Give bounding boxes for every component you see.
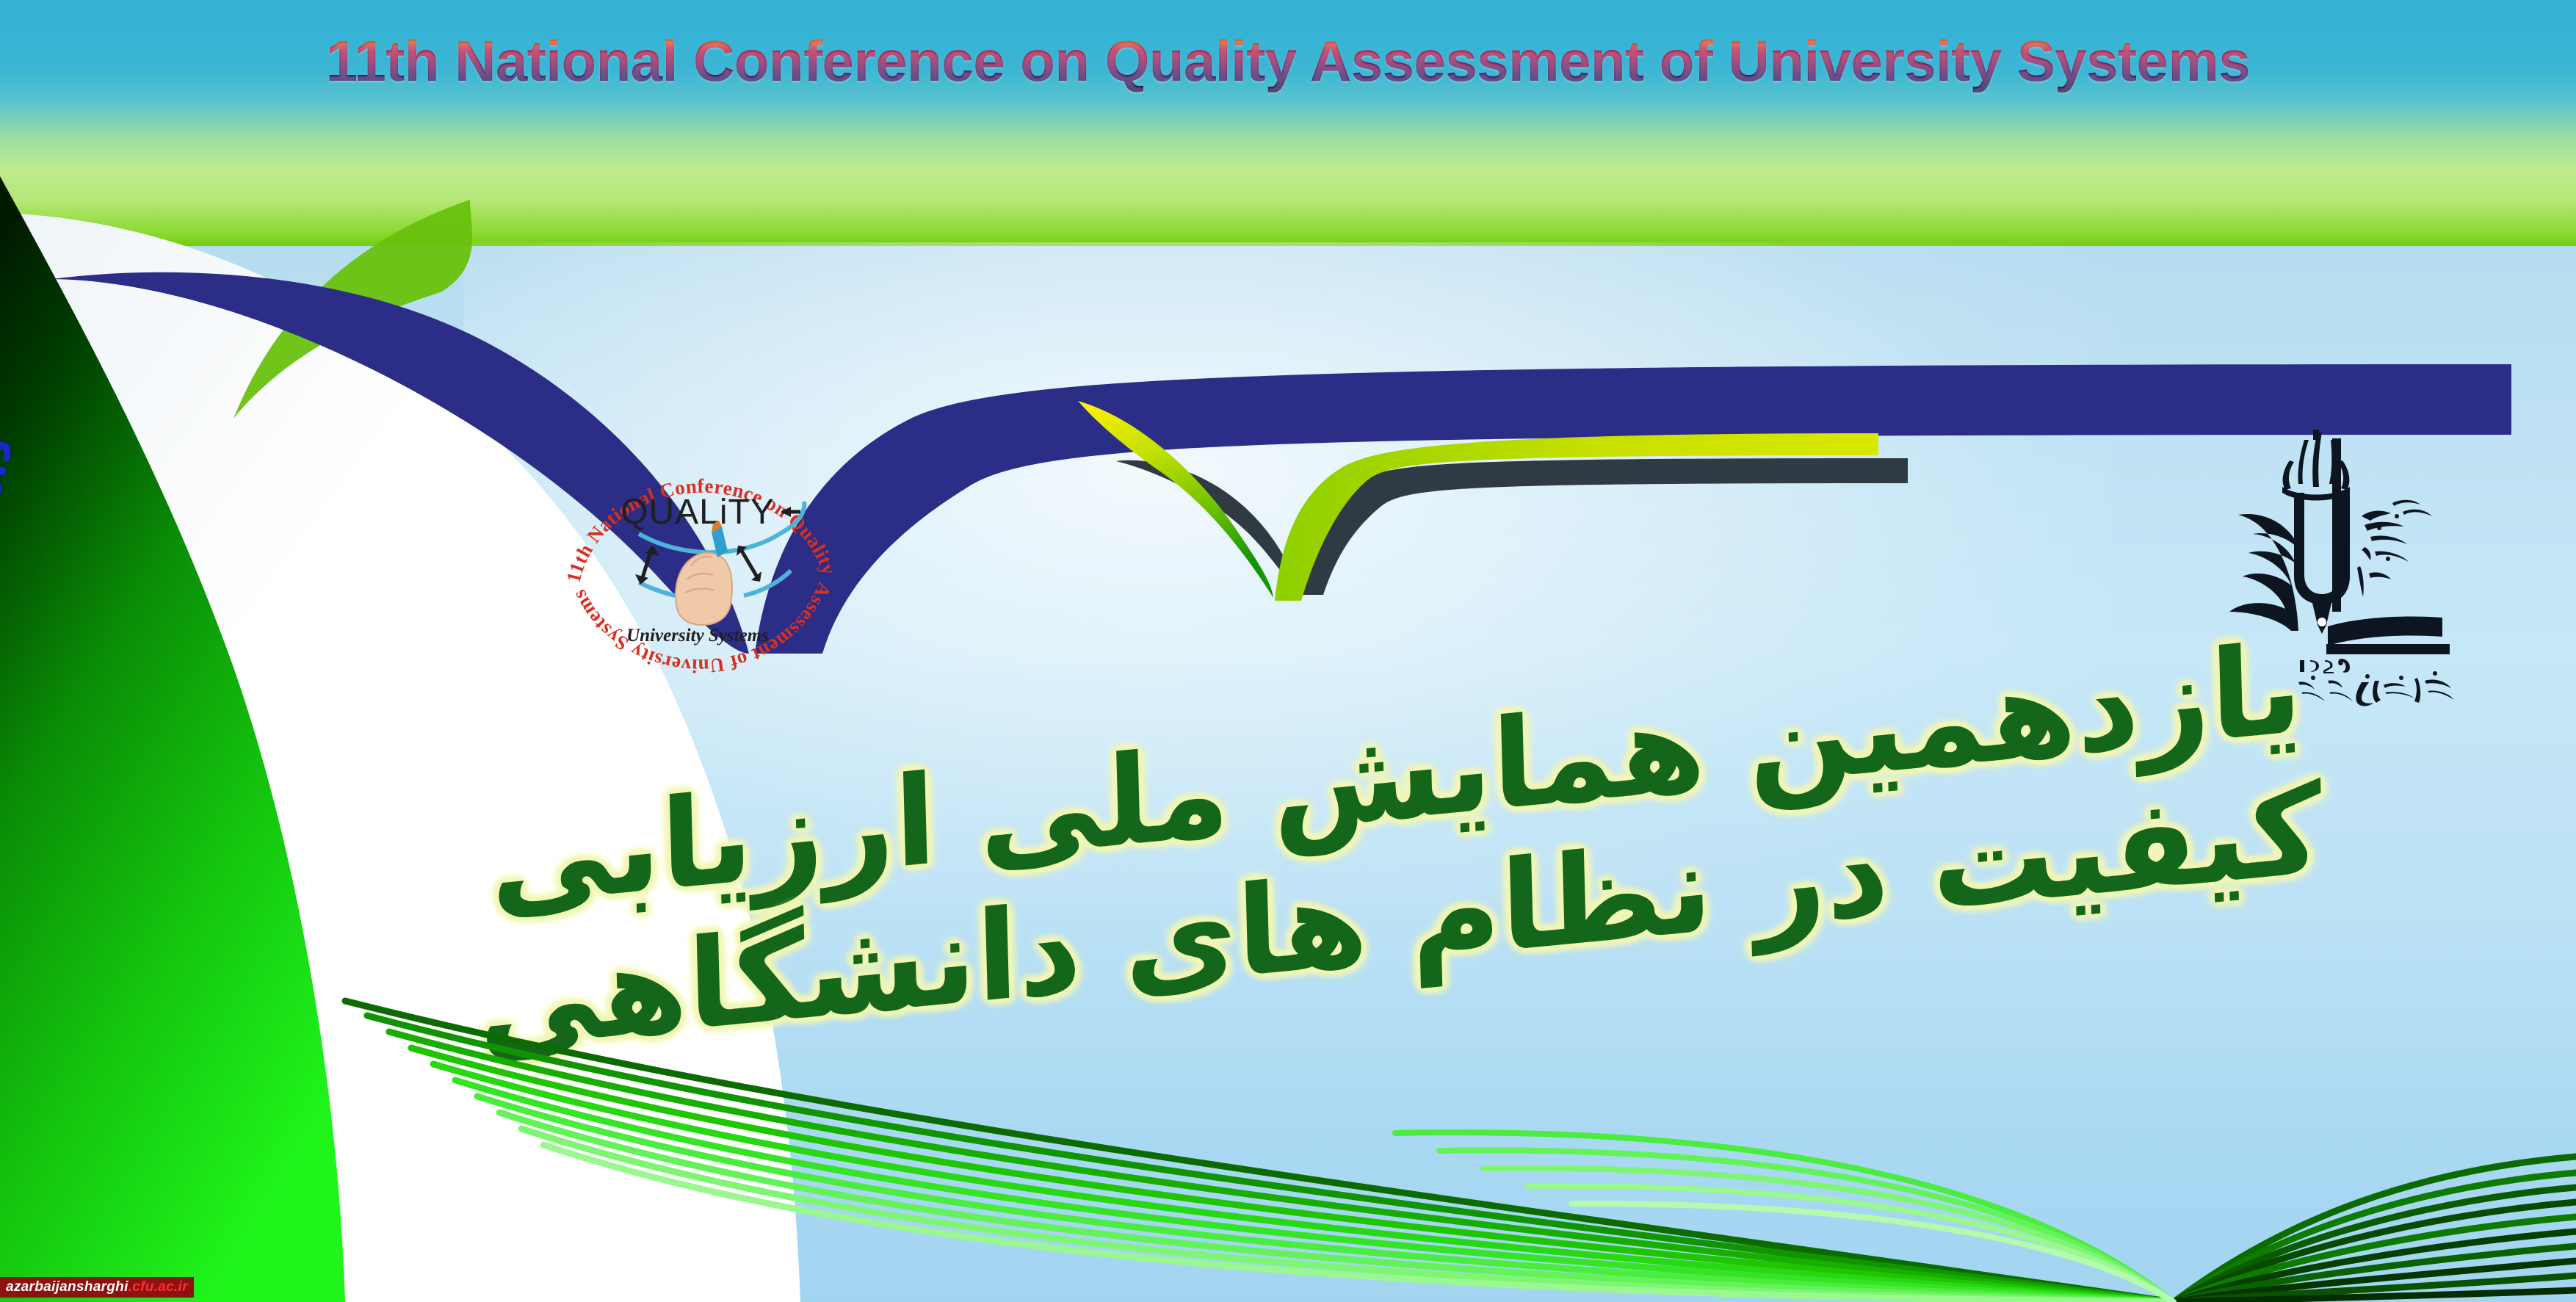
- conference-circular-logo: 11th National Conference on Quality Asse…: [547, 422, 855, 687]
- conference-banner: 11th National Conference on Quality Asse…: [0, 0, 2576, 1302]
- logo-arrow-right2-icon: [737, 546, 761, 582]
- side-persian-text: دانشگاه فرهنگیان آذربایجان شرقی: [0, 793, 301, 847]
- logo-center-word: QUALiTY: [621, 493, 775, 532]
- page-title: 11th National Conference on Quality Asse…: [0, 28, 2576, 95]
- green-ribbon-swoosh: [0, 994, 2576, 1302]
- sprout-leaf-motif: [1065, 388, 1917, 630]
- logo-arrow-left-icon: [635, 546, 659, 585]
- watermark: azarbaijansharghi.cfu.ac.ir: [0, 1277, 194, 1298]
- logo-sub-caption: University Systems: [626, 626, 769, 645]
- watermark-site-name: azarbaijansharghi: [6, 1279, 129, 1295]
- watermark-domain: .cfu.ac.ir: [129, 1279, 188, 1295]
- hand-with-pen-icon: [676, 521, 732, 625]
